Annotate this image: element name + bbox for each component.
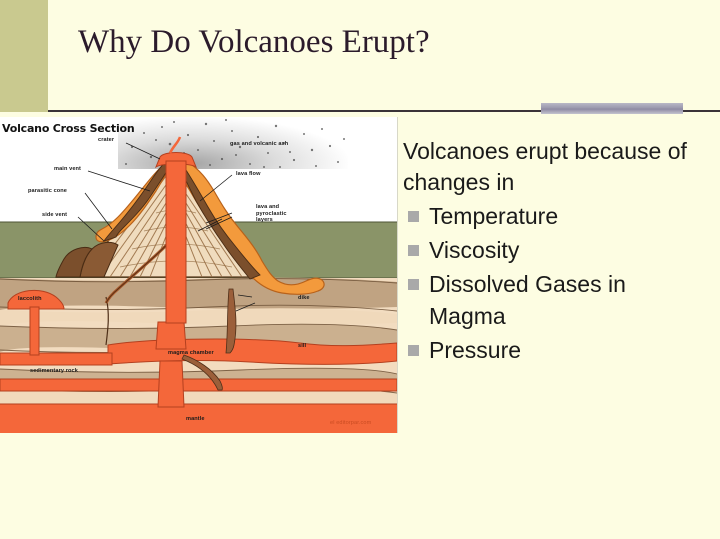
label-laccolith: laccolith: [18, 296, 42, 302]
square-bullet-icon: [408, 279, 419, 290]
bullet-label: Pressure: [429, 334, 521, 366]
label-dike: dike: [298, 295, 310, 301]
square-bullet-icon: [408, 245, 419, 256]
left-accent-bar: [0, 0, 48, 112]
list-item: Pressure: [403, 334, 703, 366]
label-gas-and-volcanic-ash: gas and volcanic ash: [230, 141, 288, 147]
label-main-vent: main vent: [54, 166, 81, 172]
bullet-label: Temperature: [429, 200, 558, 232]
label-mantle: mantle: [186, 416, 205, 422]
diagram-title: Volcano Cross Section: [2, 122, 135, 135]
content-block: Volcanoes erupt because of changes in Te…: [403, 136, 703, 366]
label-lava-flow: lava flow: [236, 171, 261, 177]
list-item: Dissolved Gases in Magma: [403, 268, 703, 332]
list-item: Temperature: [403, 200, 703, 232]
slide: Why Do Volcanoes Erupt?: [0, 0, 720, 539]
lead-text: Volcanoes erupt because of changes in: [403, 136, 703, 198]
square-bullet-icon: [408, 211, 419, 222]
label-side-vent: side vent: [42, 212, 67, 218]
label-lava-and-pyroclastic-layers: lava and pyroclastic layers: [256, 204, 298, 224]
label-crater: crater: [98, 137, 114, 143]
header-accent-bar: [541, 103, 683, 114]
label-sedimentary-rock: sedimentary rock: [30, 368, 78, 374]
diagram-credit: el editorpar.com: [330, 420, 371, 426]
label-sill: sill: [298, 343, 306, 349]
page-title: Why Do Volcanoes Erupt?: [78, 22, 430, 62]
bullet-label: Viscosity: [429, 234, 519, 266]
square-bullet-icon: [408, 345, 419, 356]
list-item: Viscosity: [403, 234, 703, 266]
bullet-label: Dissolved Gases in Magma: [429, 268, 703, 332]
label-parasitic-cone: parasitic cone: [28, 188, 67, 194]
volcano-cross-section-diagram: Volcano Cross Section crater main vent p…: [0, 117, 398, 433]
volcano-scene-svg: [0, 117, 397, 433]
bullet-list: Temperature Viscosity Dissolved Gases in…: [403, 200, 703, 366]
label-magma-chamber: magma chamber: [168, 350, 214, 356]
